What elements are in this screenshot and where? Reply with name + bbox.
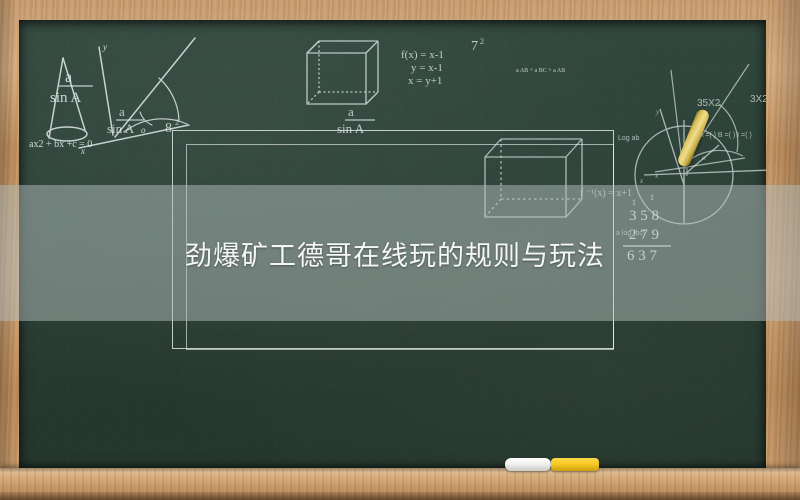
svg-text:x: x <box>654 172 659 180</box>
screenshot-root: y x o a sin A ax2 + bx +c = 0 f(x) = x-1… <box>0 0 800 500</box>
svg-text:a: a <box>119 104 125 119</box>
svg-text:A =( ) B =( ) I =( ): A =( ) B =( ) I =( ) <box>699 132 752 139</box>
svg-text:8: 8 <box>165 121 172 136</box>
svg-text:y: y <box>102 42 107 52</box>
svg-text:ax2 + bx +c = 0: ax2 + bx +c = 0 <box>29 139 92 150</box>
ledge-shadow <box>0 492 800 500</box>
svg-text:sin A: sin A <box>107 121 135 136</box>
svg-text:y: y <box>655 108 660 116</box>
svg-text:x: x <box>639 177 644 185</box>
svg-text:f(x) = x-1: f(x) = x-1 <box>401 49 444 61</box>
svg-text:y = x-1: y = x-1 <box>411 62 443 74</box>
svg-text:a AB + a BC + a AB: a AB + a BC + a AB <box>516 68 565 74</box>
svg-text:o: o <box>141 125 146 135</box>
svg-text:a: a <box>348 104 354 119</box>
svg-text:2: 2 <box>480 37 484 46</box>
yellow-chalk-icon <box>551 458 599 471</box>
white-chalk-icon <box>505 458 551 471</box>
svg-text:a: a <box>65 69 72 86</box>
svg-text:3X2: 3X2 <box>750 94 766 105</box>
svg-text:x = y+1: x = y+1 <box>408 75 442 87</box>
svg-text:7: 7 <box>471 39 478 54</box>
page-title: 劲爆矿工德哥在线玩的规则与玩法 <box>0 185 800 321</box>
svg-text:sin A: sin A <box>50 90 81 106</box>
svg-text:35X2: 35X2 <box>697 98 721 109</box>
svg-text:Log ab: Log ab <box>618 135 640 142</box>
chalk-ledge-lip <box>0 468 800 473</box>
svg-text:2: 2 <box>175 118 179 127</box>
